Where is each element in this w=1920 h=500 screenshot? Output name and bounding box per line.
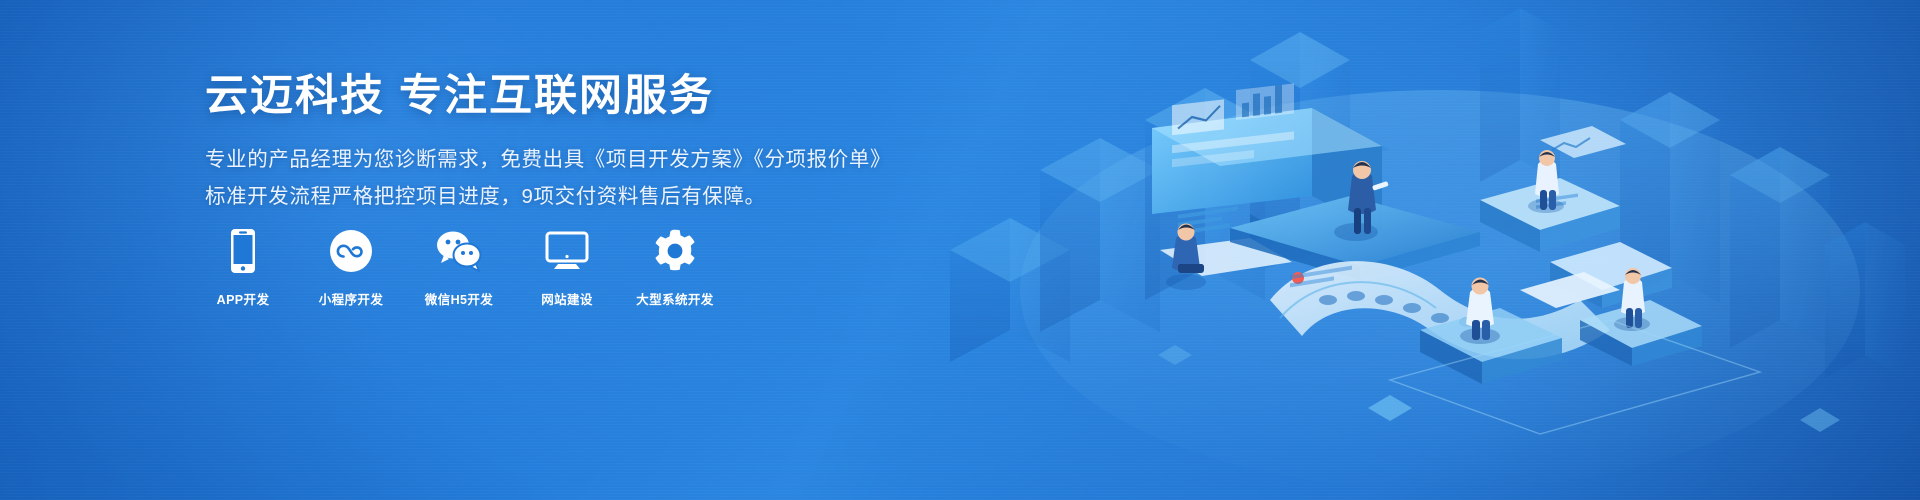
hero-banner: 云迈科技 专注互联网服务 专业的产品经理为您诊断需求，免费出具《项目开发方案》《… [0, 0, 1920, 500]
service-label: 网站建设 [541, 289, 593, 308]
hero-subtitle: 专业的产品经理为您诊断需求，免费出具《项目开发方案》《分项报价单》 标准开发流程… [205, 142, 965, 215]
wechat-icon [435, 228, 483, 274]
illustration [920, 0, 1920, 500]
service-label: APP开发 [217, 289, 270, 308]
service-label: 微信H5开发 [425, 289, 493, 308]
service-item-app[interactable]: APP开发 [205, 228, 281, 308]
service-list: APP开发 小程序开发 [205, 228, 713, 308]
mini-program-icon [329, 228, 373, 274]
service-item-large-system[interactable]: 大型系统开发 [637, 228, 713, 308]
hero-subtitle-line-2: 标准开发流程严格把控项目进度，9项交付资料售后有保障。 [205, 179, 965, 215]
gear-icon [653, 228, 697, 274]
service-item-wechat-h5[interactable]: 微信H5开发 [421, 228, 497, 308]
service-label: 小程序开发 [319, 289, 384, 308]
service-item-mini-program[interactable]: 小程序开发 [313, 228, 389, 308]
hero-copy: 云迈科技 专注互联网服务 专业的产品经理为您诊断需求，免费出具《项目开发方案》《… [205, 70, 965, 215]
hero-subtitle-line-1: 专业的产品经理为您诊断需求，免费出具《项目开发方案》《分项报价单》 [205, 142, 965, 178]
mobile-phone-icon [228, 228, 258, 274]
page-title: 云迈科技 专注互联网服务 [205, 70, 965, 122]
service-label: 大型系统开发 [636, 289, 713, 308]
service-item-website[interactable]: 网站建设 [529, 228, 605, 308]
monitor-icon [545, 228, 589, 274]
